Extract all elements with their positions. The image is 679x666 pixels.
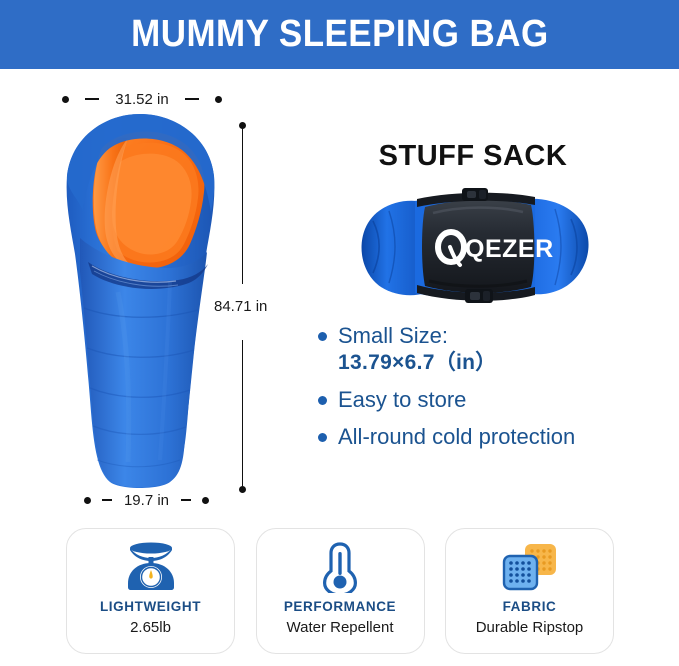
dimension-width-top-label: 31.52 in — [115, 91, 168, 108]
thermometer-icon — [317, 539, 363, 595]
feature-subtitle: Durable Ripstop — [476, 619, 584, 636]
dimension-endpoint-dot — [62, 96, 69, 103]
feature-bullet-list: Small Size: 13.79×6.7（in） Easy to store … — [318, 322, 668, 460]
dimension-endpoint-dot — [84, 497, 91, 504]
feature-subtitle: 2.65lb — [130, 619, 171, 636]
dimension-line-lower — [242, 340, 243, 486]
feature-card-lightweight: LIGHTWEIGHT 2.65lb — [66, 528, 235, 654]
stuff-sack-heading: STUFF SACK — [323, 140, 623, 173]
dimension-width-bottom: 19.7 in — [84, 490, 209, 510]
dimension-line-left — [85, 98, 99, 99]
feature-title: FABRIC — [503, 599, 557, 614]
stuff-sack-image: QEZER — [355, 185, 595, 310]
dimension-line-right — [181, 499, 191, 500]
bullet-dot-icon — [318, 433, 327, 442]
dimension-endpoint-dot — [239, 486, 246, 493]
dimension-width-top: 31.52 in — [62, 88, 222, 110]
dimension-line-left — [102, 499, 112, 500]
list-item: All-round cold protection — [318, 423, 668, 450]
bullet-size-value: 13.79×6.7（in） — [338, 349, 497, 376]
feature-card-row: LIGHTWEIGHT 2.65lb PERFORMANCE Water Rep… — [66, 528, 614, 656]
bullet-label: All-round cold protection — [338, 423, 575, 450]
dimension-endpoint-dot — [202, 497, 209, 504]
svg-text:QEZER: QEZER — [465, 235, 554, 263]
feature-card-performance: PERFORMANCE Water Repellent — [256, 528, 425, 654]
list-item: Small Size: 13.79×6.7（in） — [318, 322, 668, 376]
ripstop-fabric-icon — [501, 539, 559, 595]
dimension-width-bottom-label: 19.7 in — [124, 492, 169, 509]
bullet-label: Easy to store — [338, 386, 466, 413]
feature-card-fabric: FABRIC Durable Ripstop — [445, 528, 614, 654]
bullet-label: Small Size: — [338, 323, 448, 348]
dimension-height-label: 84.71 in — [214, 298, 267, 315]
dimension-endpoint-dot — [215, 96, 222, 103]
header-banner: MUMMY SLEEPING BAG — [0, 0, 679, 69]
dimension-line-right — [185, 98, 199, 99]
feature-title: LIGHTWEIGHT — [100, 599, 201, 614]
feature-title: PERFORMANCE — [284, 599, 396, 614]
bullet-dot-icon — [318, 332, 327, 341]
dimension-line-upper — [242, 126, 243, 284]
kitchen-scale-icon — [123, 539, 179, 595]
sleeping-bag-image — [58, 112, 223, 490]
list-item: Easy to store — [318, 386, 668, 413]
feature-subtitle: Water Repellent — [287, 619, 394, 636]
bullet-dot-icon — [318, 396, 327, 405]
page-title: MUMMY SLEEPING BAG — [131, 13, 548, 56]
